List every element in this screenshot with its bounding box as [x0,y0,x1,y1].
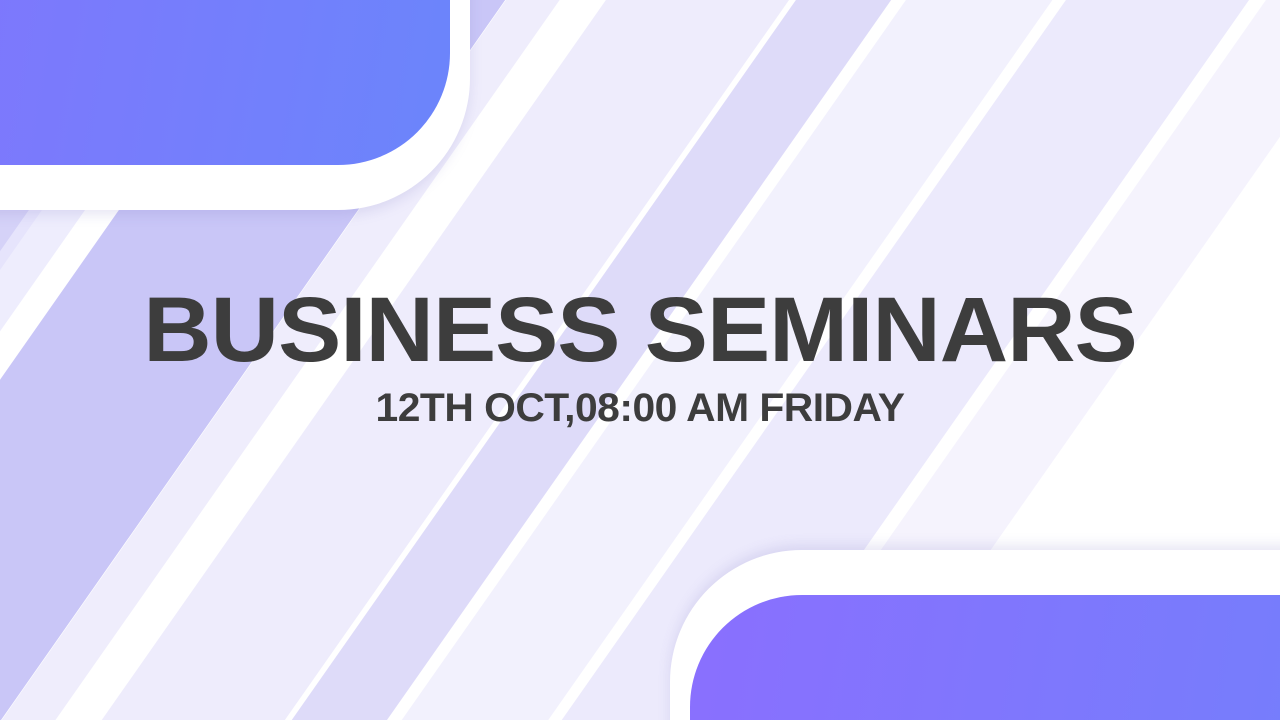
poster-text-block: BUSINESS SEMINARS 12TH OCT,08:00 AM FRID… [0,286,1280,428]
top-left-gradient-fill [0,0,450,165]
event-datetime: 12TH OCT,08:00 AM FRIDAY [0,388,1280,428]
event-poster: BUSINESS SEMINARS 12TH OCT,08:00 AM FRID… [0,0,1280,720]
bottom-right-gradient-fill [690,595,1280,720]
event-title: BUSINESS SEMINARS [0,286,1280,374]
